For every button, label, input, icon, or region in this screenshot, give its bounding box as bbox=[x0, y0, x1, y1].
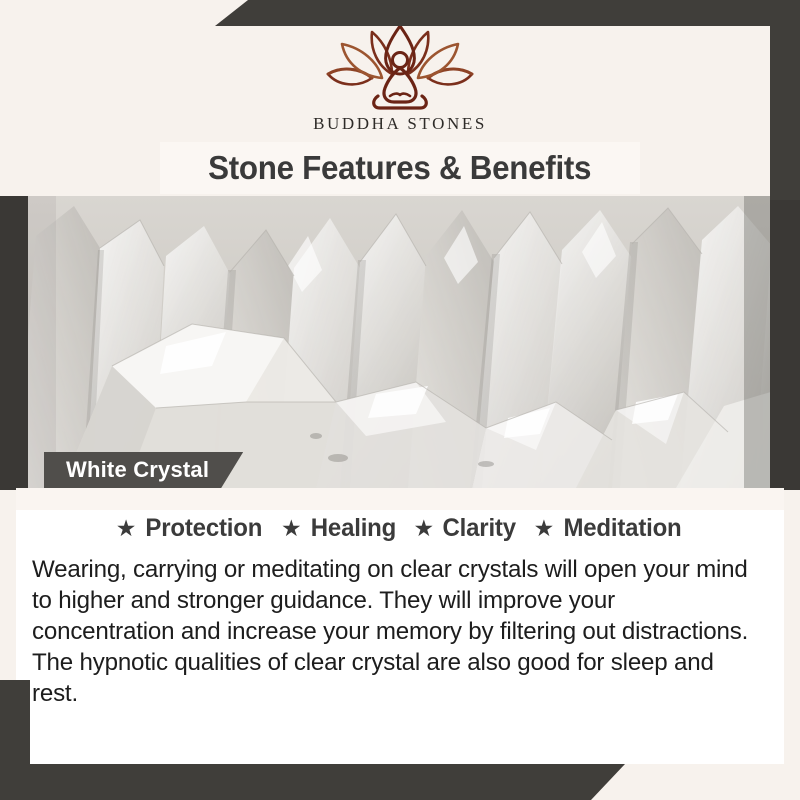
body-top-divider bbox=[16, 488, 784, 510]
stone-name-label: White Crystal bbox=[66, 457, 209, 483]
benefit-label: Meditation bbox=[564, 514, 682, 543]
top-right-frame-wedge bbox=[215, 0, 800, 26]
star-icon: ★ bbox=[281, 517, 302, 540]
bottom-left-frame-wedge bbox=[0, 764, 625, 800]
brand-name: BUDDHA STONES bbox=[313, 114, 487, 134]
white-crystal-cluster-photo: White Crystal bbox=[16, 196, 784, 488]
benefit-label: Healing bbox=[310, 514, 395, 543]
page-title: Stone Features & Benefits bbox=[208, 149, 591, 187]
brand-logo-block: BUDDHA STONES bbox=[0, 22, 800, 134]
header-section: BUDDHA STONES Stone Features & Benefits bbox=[0, 0, 800, 196]
infographic-card: BUDDHA STONES Stone Features & Benefits bbox=[0, 0, 800, 800]
benefit-label: Clarity bbox=[443, 514, 516, 543]
outer-frame: BUDDHA STONES Stone Features & Benefits bbox=[0, 0, 800, 800]
bottom-left-frame-side bbox=[0, 680, 30, 800]
benefit-item: ★ Protection bbox=[116, 514, 265, 543]
right-frame-strip bbox=[770, 190, 800, 490]
stone-name-banner: White Crystal bbox=[44, 452, 243, 488]
benefit-item: ★ Clarity bbox=[414, 514, 518, 543]
benefit-item: ★ Meditation bbox=[534, 514, 685, 543]
left-frame-strip bbox=[0, 190, 28, 490]
star-icon: ★ bbox=[534, 517, 555, 540]
lotus-meditation-icon bbox=[316, 22, 484, 110]
description-paragraph: Wearing, carrying or meditating on clear… bbox=[32, 554, 757, 710]
benefit-label: Protection bbox=[146, 514, 263, 543]
crystal-photo-illustration bbox=[16, 196, 784, 488]
star-icon: ★ bbox=[116, 517, 137, 540]
top-right-frame-side bbox=[770, 0, 800, 200]
title-banner: Stone Features & Benefits bbox=[160, 142, 640, 194]
body-section: ★ Protection ★ Healing ★ Clarity ★ Medit… bbox=[16, 488, 784, 764]
benefits-row: ★ Protection ★ Healing ★ Clarity ★ Medit… bbox=[16, 514, 784, 543]
star-icon: ★ bbox=[414, 517, 435, 540]
benefit-item: ★ Healing bbox=[281, 514, 398, 543]
